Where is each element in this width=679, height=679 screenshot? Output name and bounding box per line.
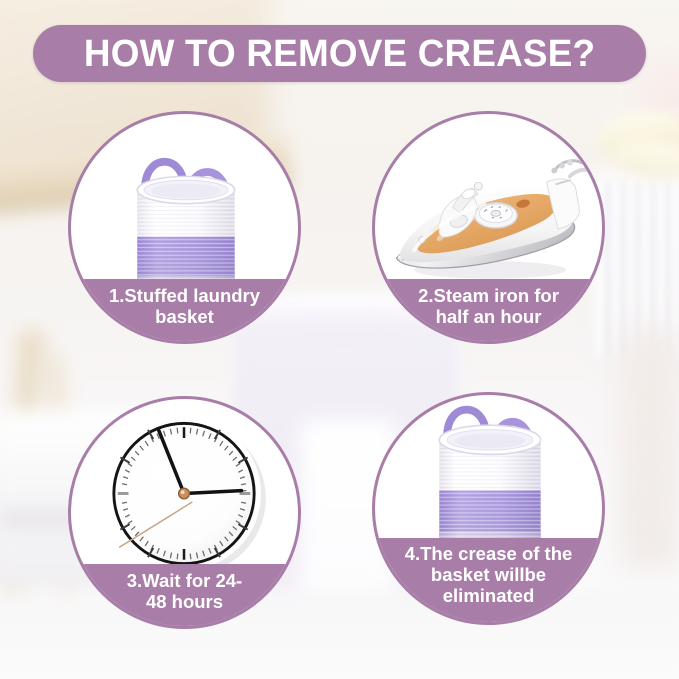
step-card-1: 1.Stuffed laundry basket: [68, 111, 301, 344]
step-caption-2: 2.Steam iron for half an hour: [375, 279, 602, 341]
step-card-3: 3.Wait for 24- 48 hours: [68, 396, 301, 629]
title-banner: HOW TO REMOVE CREASE?: [33, 25, 646, 82]
infographic-root: HOW TO REMOVE CREASE?: [0, 0, 679, 679]
step-caption-1: 1.Stuffed laundry basket: [71, 279, 298, 341]
step-caption-3: 3.Wait for 24- 48 hours: [71, 564, 298, 626]
page-title: HOW TO REMOVE CREASE?: [84, 35, 595, 73]
step-caption-4: 4.The crease of the basket willbe elimin…: [375, 538, 602, 622]
step-card-4: 4.The crease of the basket willbe elimin…: [372, 392, 605, 625]
step-card-2: 2.Steam iron for half an hour: [372, 111, 605, 344]
